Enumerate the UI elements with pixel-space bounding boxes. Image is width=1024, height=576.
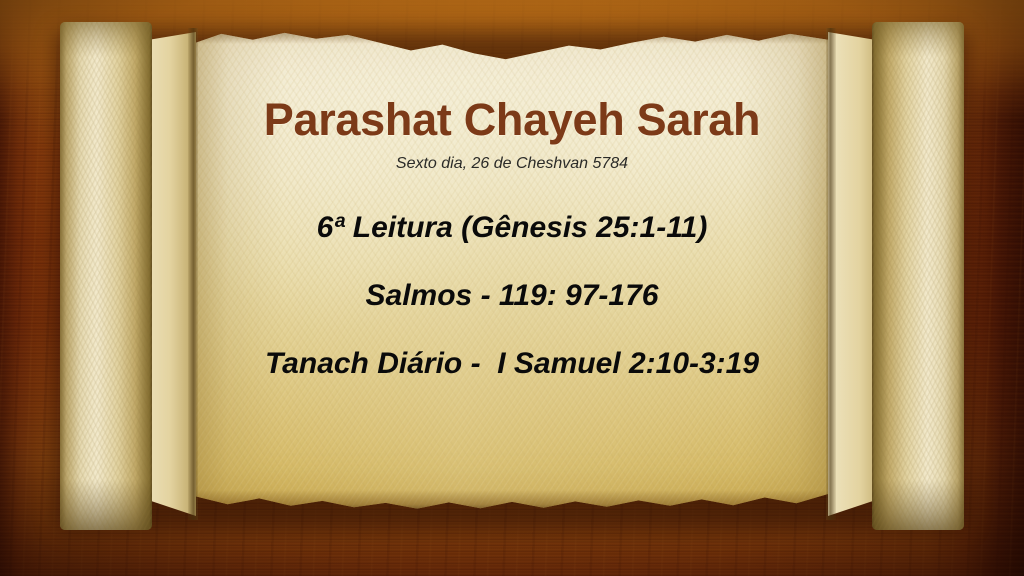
page-title: Parashat Chayeh Sarah bbox=[150, 96, 874, 143]
slide-content: Parashat Chayeh Sarah Sexto dia, 26 de C… bbox=[150, 40, 874, 379]
scroll-roll-left bbox=[60, 22, 152, 530]
tanach-reading-line: Tanach Diário - I Samuel 2:10-3:19 bbox=[150, 349, 874, 379]
slide-canvas: Parashat Chayeh Sarah Sexto dia, 26 de C… bbox=[0, 0, 1024, 576]
torah-reading-line: 6ª Leitura (Gênesis 25:1-11) bbox=[150, 213, 874, 243]
readings-list: 6ª Leitura (Gênesis 25:1-11) Salmos - 11… bbox=[150, 213, 874, 379]
hebrew-date-subtitle: Sexto dia, 26 de Cheshvan 5784 bbox=[150, 155, 874, 173]
scroll-roll-left-texture bbox=[60, 22, 152, 530]
scroll-roll-right bbox=[872, 22, 964, 530]
psalms-reading-line: Salmos - 119: 97-176 bbox=[150, 281, 874, 311]
scroll-roll-right-texture bbox=[872, 22, 964, 530]
